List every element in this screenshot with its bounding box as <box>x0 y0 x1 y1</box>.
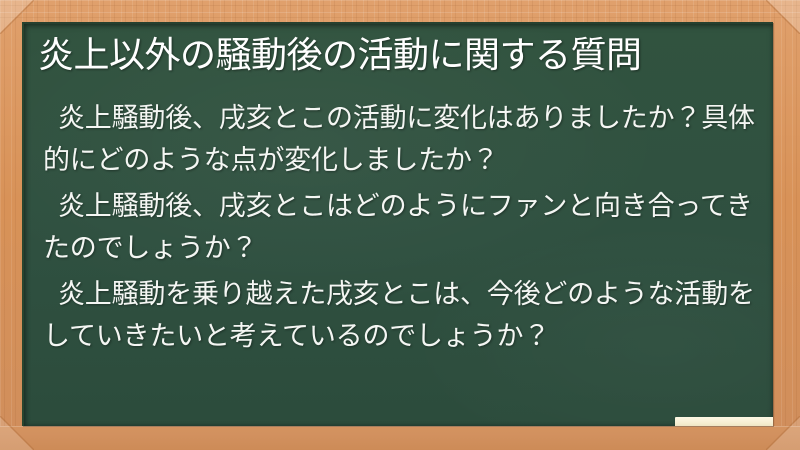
chalkboard-slide: 炎上以外の騒動後の活動に関する質問 炎上騒動後、戌亥とこの活動に変化はありました… <box>0 0 800 450</box>
question-list: 炎上騒動後、戌亥とこの活動に変化はありましたか？具体的にどのような点が変化しまし… <box>43 98 757 362</box>
wood-frame-chalk-tray <box>0 426 800 450</box>
wood-frame-top-grain <box>0 0 800 24</box>
chalk-stick-icon <box>675 417 773 426</box>
question-item-1: 炎上騒動後、戌亥とこの活動に変化はありましたか？具体的にどのような点が変化しまし… <box>43 98 757 182</box>
question-item-2: 炎上騒動後、戌亥とこはどのようにファンと向き合ってきたのでしょうか？ <box>43 186 757 270</box>
chalkboard-surface: 炎上以外の騒動後の活動に関する質問 炎上騒動後、戌亥とこの活動に変化はありました… <box>22 22 773 426</box>
board-title: 炎上以外の騒動後の活動に関する質問 <box>38 32 754 80</box>
question-item-3: 炎上騒動を乗り越えた戌亥とこは、今後どのような活動をしていきたいと考えているので… <box>43 274 757 358</box>
